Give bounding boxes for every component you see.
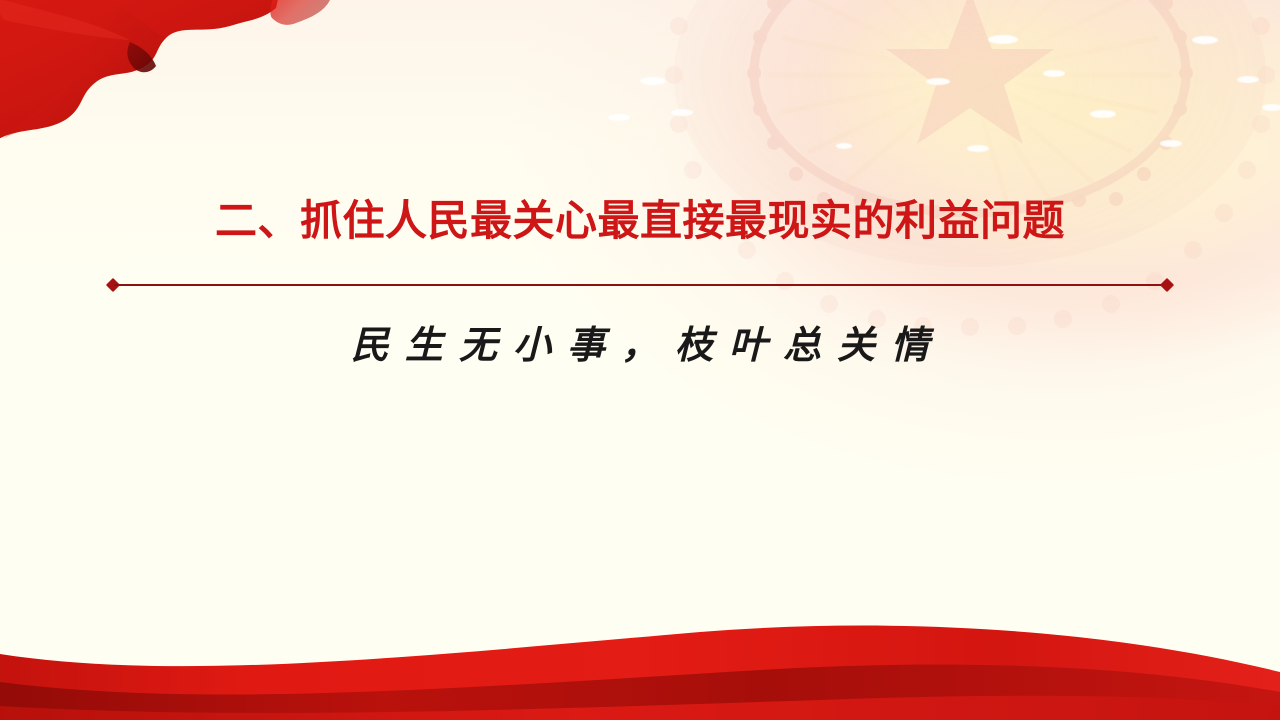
title-divider	[108, 278, 1172, 292]
presentation-slide: 二、抓住人民最关心最直接最现实的利益问题 民生无小事，枝叶总关情	[0, 0, 1280, 720]
page-title: 二、抓住人民最关心最直接最现实的利益问题	[0, 198, 1280, 244]
subtitle-calligraphy: 民生无小事，枝叶总关情	[0, 314, 1280, 369]
slide-content: 二、抓住人民最关心最直接最现实的利益问题 民生无小事，枝叶总关情	[0, 0, 1280, 720]
divider-diamond-right-icon	[1160, 278, 1174, 292]
divider-rule	[114, 284, 1166, 286]
